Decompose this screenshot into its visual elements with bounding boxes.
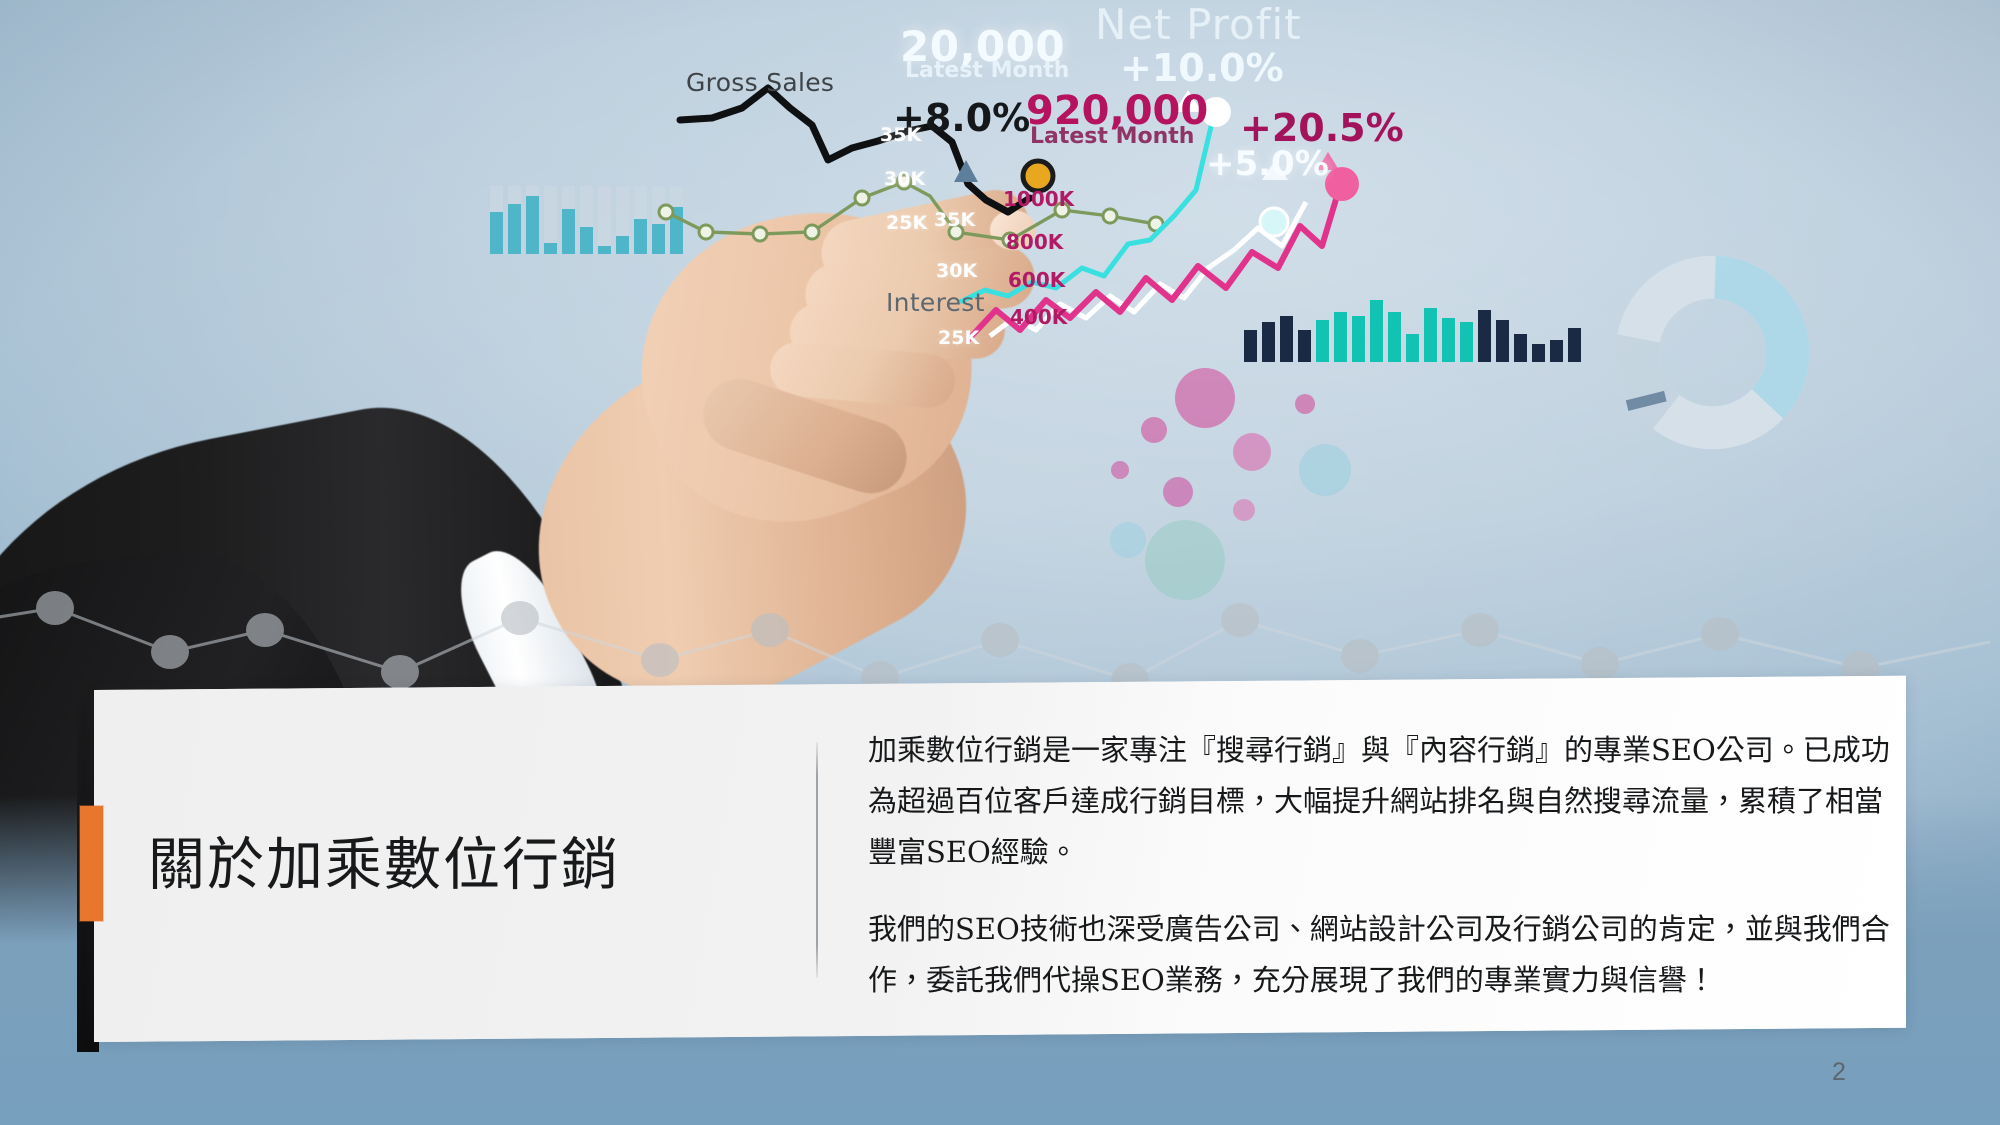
axis-tick-left-30k: 30K [884,168,925,190]
net-profit-change: +10.0% [1120,46,1284,90]
donut-chart [1605,245,1820,460]
gross-sales-label: Gross Sales [686,68,834,97]
axis-tick-right-800k: 800K [1006,230,1063,254]
axis-tick-mid-35k: 35K [934,209,975,231]
dark-teal-bar-chart [1244,300,1581,362]
axis-tick-mid-25k: 25K [938,327,979,349]
teal-bar-chart-left [490,186,683,254]
axis-tick-right-1000k: 1000K [1003,187,1074,211]
axis-tick-left-35k: 35K [880,124,921,146]
secondary-change: +5.0% [1206,144,1329,184]
axis-tick-right-400k: 400K [1010,305,1067,329]
body-paragraph-1: 加乘數位行銷是一家專注『搜尋行銷』與『內容行銷』的專業SEO公司。已成功為超過百… [868,725,1898,878]
magenta-line-end-marker [1325,167,1359,201]
net-profit-label: Net Profit [1095,0,1302,49]
interest-label: Interest [886,288,985,317]
axis-tick-left-25k: 25K [886,212,927,234]
page-number: 2 [1832,1058,1846,1087]
slide: Gross Sales Interest 20,000 Latest Month… [0,0,2000,1125]
revenue-value-sublabel: Latest Month [1030,124,1194,149]
accent-bar [80,806,103,921]
axis-tick-mid-30k: 30K [936,260,977,282]
page-title: 關於加乘數位行銷 [148,790,738,930]
gross-sales-value-sublabel: Latest Month [905,58,1069,83]
vertical-divider [816,742,818,978]
body-paragraph-2: 我們的SEO技術也深受廣告公司、網站設計公司及行銷公司的肯定，並與我們合作，委託… [868,904,1898,1006]
bubble-cluster [1110,368,1351,600]
white-line-end-marker [1260,208,1288,236]
body-text: 加乘數位行銷是一家專注『搜尋行銷』與『內容行銷』的專業SEO公司。已成功為超過百… [868,725,1898,1006]
axis-tick-right-600k: 600K [1008,268,1065,292]
